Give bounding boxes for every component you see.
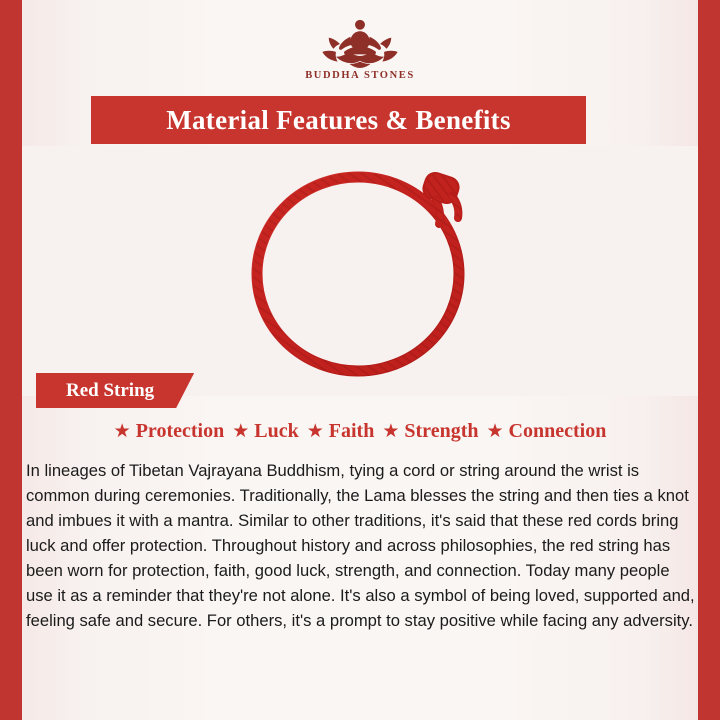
lotus-meditation-icon xyxy=(316,12,404,68)
keyword-label: Connection xyxy=(509,420,607,443)
keyword-item: ★ Faith xyxy=(307,420,375,443)
description-text: In lineages of Tibetan Vajrayana Buddhis… xyxy=(26,458,696,633)
star-icon: ★ xyxy=(232,422,249,441)
keyword-label: Luck xyxy=(254,420,298,443)
infographic-page: BUDDHA STONES Material Features & Benefi… xyxy=(0,0,720,720)
right-border-band xyxy=(698,0,720,720)
product-label: Red String xyxy=(66,380,154,402)
page-title: Material Features & Benefits xyxy=(166,105,511,136)
keyword-item: ★ Protection xyxy=(114,420,225,443)
section-title-banner: Material Features & Benefits xyxy=(91,96,586,144)
keyword-item: ★ Luck xyxy=(232,420,299,443)
brand-name: BUDDHA STONES xyxy=(0,70,720,81)
keyword-label: Faith xyxy=(329,420,375,443)
red-string-bracelet-image xyxy=(230,154,490,386)
keyword-label: Strength xyxy=(404,420,478,443)
star-icon: ★ xyxy=(486,422,503,441)
keyword-item: ★ Connection xyxy=(486,420,606,443)
product-image-area xyxy=(22,146,698,396)
star-icon: ★ xyxy=(307,422,324,441)
brand-logo: BUDDHA STONES xyxy=(0,12,720,81)
star-icon: ★ xyxy=(382,422,399,441)
benefit-keyword-row: ★ Protection ★ Luck ★ Faith ★ Strength ★… xyxy=(40,420,680,443)
keyword-label: Protection xyxy=(136,420,225,443)
keyword-item: ★ Strength xyxy=(382,420,478,443)
product-label-tab: Red String xyxy=(36,373,194,408)
left-border-band xyxy=(0,0,22,720)
star-icon: ★ xyxy=(114,422,131,441)
